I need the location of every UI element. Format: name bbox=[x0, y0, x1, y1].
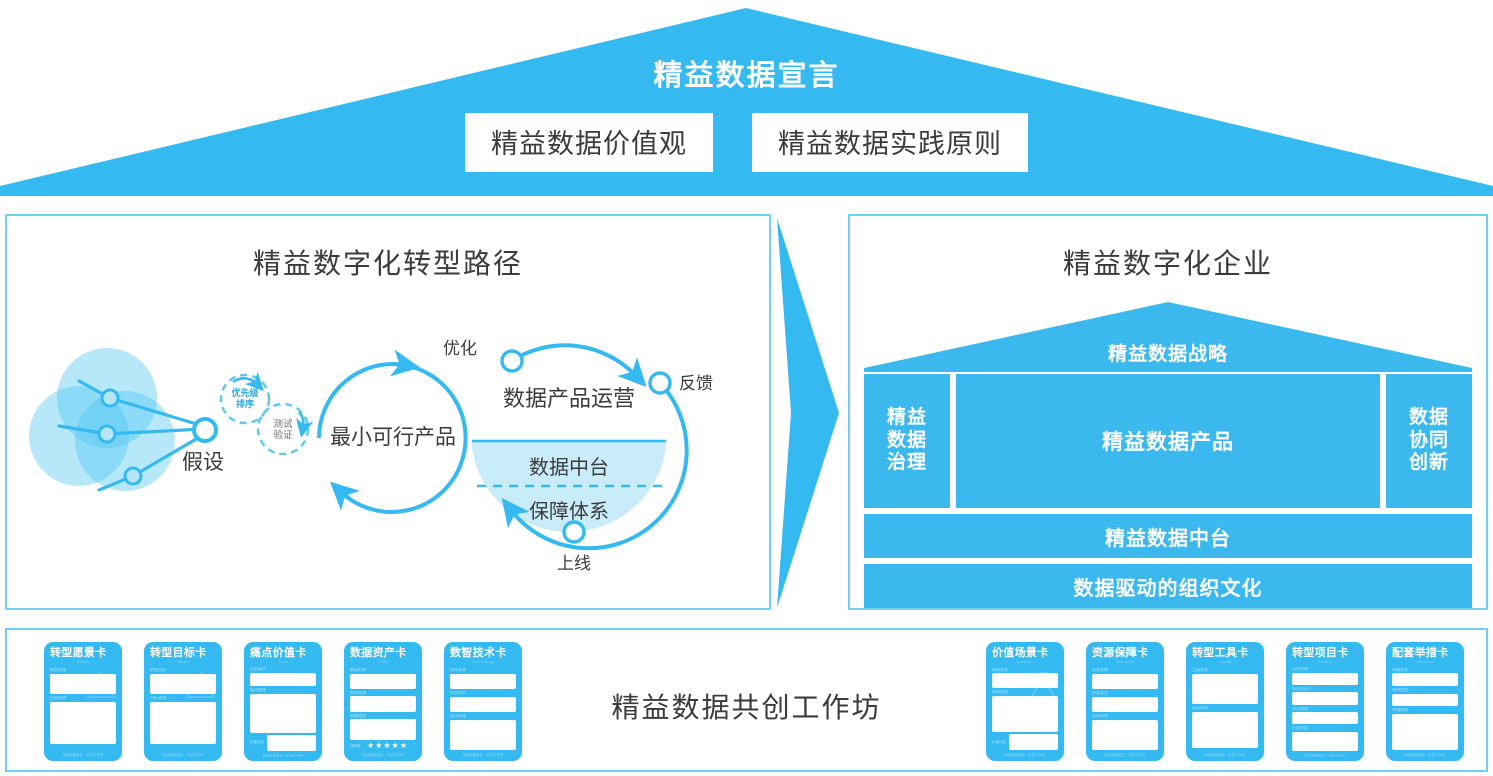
hypothesis-node bbox=[194, 419, 216, 441]
card-rating[interactable]: 成熟度：★★★★★ bbox=[350, 742, 416, 750]
middle-row: 精益数字化转型路径 bbox=[0, 214, 1493, 612]
card-subtitle: Value bbox=[250, 659, 316, 663]
card-input-box[interactable] bbox=[350, 696, 416, 711]
flask-watermark-icon bbox=[1026, 668, 1060, 702]
card-field-label: 价值评估 bbox=[250, 740, 264, 745]
card-title: 转型目标卡 bbox=[150, 647, 216, 659]
card-input-box[interactable] bbox=[1192, 674, 1258, 704]
card-field-label: 项目名称 bbox=[1292, 667, 1358, 671]
manifesto-roof: 精益数据宣言 精益数据价值观 精益数据实践原则 bbox=[0, 0, 1493, 196]
star-icon[interactable]: ★ bbox=[392, 742, 399, 750]
star-icon[interactable]: ★ bbox=[375, 742, 382, 750]
transition-arrow-icon bbox=[773, 214, 843, 612]
card-field-label: 项目负责人 bbox=[1292, 687, 1358, 691]
house-pillars: 精益 数据 治理 精益数据产品 数据 协同 创新 bbox=[864, 374, 1472, 508]
lean-data-manifesto-diagram: 精益数据宣言 精益数据价值观 精益数据实践原则 精益数字化转型路径 bbox=[0, 0, 1493, 776]
card-subtitle: Toolkit bbox=[1192, 659, 1258, 664]
card-field-label: 数据名称 bbox=[350, 668, 416, 673]
workshop-card[interactable]: 配套举措卡Measure举措名称举措类型举措说明精益数据宣言 · 共创工作坊 bbox=[1386, 642, 1464, 761]
card-footer: 精益数据宣言 · 共创工作坊 bbox=[1192, 750, 1258, 757]
card-rating-label: 成熟度： bbox=[350, 744, 364, 749]
card-input-box[interactable] bbox=[50, 702, 116, 744]
card-title: 痛点价值卡 bbox=[250, 647, 316, 659]
ops-mid-label: 数据中台 bbox=[529, 456, 609, 479]
card-field-label: 数据描述 bbox=[350, 714, 416, 719]
card-footer: 精益数据宣言 · 共创工作坊 bbox=[350, 750, 416, 757]
triangle-watermark-icon bbox=[84, 668, 118, 702]
star-icon[interactable]: ★ bbox=[400, 742, 407, 750]
triangle-watermark-icon bbox=[184, 668, 218, 702]
transformation-path-graphic: 假设 优先级 排序 测试 验证 bbox=[7, 286, 773, 612]
workshop-cards-right: 价值场景卡Scenario场景名称场景描述价值评估精益数据宣言 · 共创工作坊资… bbox=[986, 642, 1464, 761]
ops-top-label: 数据产品运营 bbox=[503, 386, 635, 411]
card-inline-field[interactable]: 价值评估 bbox=[992, 734, 1058, 750]
card-title: 配套举措卡 bbox=[1392, 647, 1458, 659]
card-subtitle: Vision bbox=[50, 659, 116, 664]
foundation-data-midend[interactable]: 精益数据中台 bbox=[864, 514, 1472, 558]
lean-digital-enterprise-panel: 精益数字化企业 精益数据战略 精益 数据 治理 bbox=[848, 214, 1488, 610]
card-title: 转型工具卡 bbox=[1192, 647, 1258, 659]
card-field-label: 适用场景 bbox=[1192, 706, 1258, 711]
card-footer: 精益数据宣言 · 共创工作坊 bbox=[450, 750, 516, 757]
pillar-governance-line1: 精益 bbox=[887, 407, 927, 428]
house-roof: 精益数据战略 bbox=[864, 302, 1472, 372]
workshop-card[interactable]: 痛点价值卡Value业务痛点痛点描述价值评估精益数据宣言 · 共创工作坊 bbox=[244, 642, 322, 761]
card-title: 数智技术卡 bbox=[450, 647, 516, 659]
card-input-box[interactable] bbox=[350, 719, 416, 740]
pillar-collab-line2: 协同 bbox=[1409, 430, 1449, 451]
card-input-box[interactable] bbox=[1192, 712, 1258, 748]
card-field-label: 资源类型 bbox=[1092, 691, 1158, 696]
card-field-label: 举措名称 bbox=[1392, 668, 1458, 673]
pillar-data-collaboration[interactable]: 数据 协同 创新 bbox=[1386, 374, 1472, 508]
card-footer: 精益数据宣言 · 共创工作坊 bbox=[1292, 751, 1358, 757]
optimize-label: 优化 bbox=[443, 339, 477, 358]
card-field-label: 资源说明 bbox=[1092, 714, 1158, 719]
card-input-box[interactable] bbox=[1292, 732, 1358, 751]
pillar-governance-line3: 治理 bbox=[887, 452, 927, 473]
workshop-card[interactable]: 价值场景卡Scenario场景名称场景描述价值评估精益数据宣言 · 共创工作坊 bbox=[986, 642, 1064, 761]
card-footer: 精益数据宣言 · 共创工作坊 bbox=[992, 750, 1058, 757]
card-input-box[interactable] bbox=[450, 697, 516, 712]
workshop-card[interactable]: 数智技术卡Technology技术名称技术特点应用场景精益数据宣言 · 共创工作… bbox=[444, 642, 522, 761]
launch-label: 上线 bbox=[557, 554, 591, 573]
card-input-box[interactable] bbox=[350, 674, 416, 689]
manifesto-title: 精益数据宣言 bbox=[0, 52, 1493, 94]
pillar-data-governance[interactable]: 精益 数据 治理 bbox=[864, 374, 950, 508]
workshop-card[interactable]: 数据资产卡Data数据名称数据来源数据描述成熟度：★★★★★精益数据宣言 · 共… bbox=[344, 642, 422, 761]
launch-node bbox=[564, 522, 584, 542]
card-input-box[interactable] bbox=[1092, 674, 1158, 689]
card-subtitle: Project bbox=[1292, 659, 1358, 663]
svg-text:排序: 排序 bbox=[236, 398, 254, 409]
data-sources-blobs bbox=[29, 348, 175, 491]
card-subtitle: Technology bbox=[450, 659, 516, 664]
card-field-label: 项目周期 bbox=[1292, 707, 1358, 711]
card-field-label: 痛点描述 bbox=[250, 688, 316, 692]
card-field-label: 资源名称 bbox=[1092, 668, 1158, 673]
transformation-path-title: 精益数字化转型路径 bbox=[7, 242, 769, 282]
star-icon[interactable]: ★ bbox=[383, 742, 390, 750]
pillar-data-products[interactable]: 精益数据产品 bbox=[956, 374, 1380, 508]
mvp-circle: 最小可行产品 bbox=[319, 364, 466, 512]
card-input-box[interactable] bbox=[1392, 673, 1458, 686]
card-field-label: 工具名称 bbox=[1192, 668, 1258, 673]
card-field-label: 举措类型 bbox=[1392, 688, 1458, 693]
card-title: 资源保障卡 bbox=[1092, 647, 1158, 659]
card-title: 价值场景卡 bbox=[992, 647, 1058, 659]
workshop-panel: 精益数据共创工作坊 转型愿景卡Vision转型愿景愿景说明精益数据宣言 · 共创… bbox=[5, 628, 1488, 772]
feedback-node bbox=[650, 373, 670, 393]
lean-digital-enterprise-title: 精益数字化企业 bbox=[850, 242, 1486, 282]
ops-bottom-label: 保障体系 bbox=[529, 500, 609, 523]
operations-circle: 数据产品运营 数据中台 保障体系 优化 反馈 上线 bbox=[443, 339, 713, 573]
card-field-label: 举措说明 bbox=[1392, 708, 1458, 713]
card-input-box[interactable] bbox=[150, 702, 216, 744]
foundation-data-culture[interactable]: 数据驱动的组织文化 bbox=[864, 564, 1472, 608]
card-inline-field[interactable]: 价值评估 bbox=[250, 735, 316, 751]
card-footer: 精益数据宣言 · 共创工作坊 bbox=[1392, 750, 1458, 757]
card-input-box[interactable] bbox=[450, 720, 516, 751]
card-field-label: 价值评估 bbox=[992, 740, 1006, 745]
enterprise-house: 精益数据战略 精益 数据 治理 精益数据产品 数据 协同 bbox=[864, 302, 1472, 608]
workshop-card[interactable]: 资源保障卡Resource资源名称资源类型资源说明精益数据宣言 · 共创工作坊 bbox=[1086, 642, 1164, 761]
card-footer: 精益数据宣言 · 共创工作坊 bbox=[150, 750, 216, 757]
manifesto-pillar-boxes: 精益数据价值观 精益数据实践原则 bbox=[0, 113, 1493, 172]
svg-text:验证: 验证 bbox=[273, 429, 293, 441]
pillar-governance-line2: 数据 bbox=[887, 430, 927, 451]
optimize-node bbox=[502, 351, 522, 371]
card-field-label: 主要内容 bbox=[1292, 726, 1358, 730]
pillar-collab-line1: 数据 bbox=[1409, 407, 1449, 428]
test-validate-node: 测试 验证 bbox=[258, 404, 308, 454]
card-subtitle: Scenario bbox=[992, 659, 1058, 664]
manifesto-box-principles[interactable]: 精益数据实践原则 bbox=[752, 113, 1028, 172]
card-input-box[interactable] bbox=[267, 735, 316, 751]
card-subtitle: Resource bbox=[1092, 659, 1158, 664]
priority-sort-node: 优先级 排序 bbox=[221, 375, 269, 423]
card-title: 转型愿景卡 bbox=[50, 647, 116, 659]
card-title: 数据资产卡 bbox=[350, 647, 416, 659]
card-input-box[interactable] bbox=[450, 674, 516, 689]
card-field-label: 技术特点 bbox=[450, 691, 516, 696]
card-subtitle: Target bbox=[150, 659, 216, 664]
card-input-box[interactable] bbox=[1009, 734, 1058, 750]
feedback-label: 反馈 bbox=[679, 374, 713, 393]
card-input-box[interactable] bbox=[1292, 692, 1358, 704]
card-input-box[interactable] bbox=[1092, 720, 1158, 751]
card-input-box[interactable] bbox=[1292, 712, 1358, 724]
card-input-box[interactable] bbox=[250, 673, 316, 687]
workshop-card[interactable]: 转型项目卡Project项目名称项目负责人项目周期主要内容精益数据宣言 · 共创… bbox=[1286, 642, 1364, 761]
card-subtitle: Data bbox=[350, 659, 416, 664]
card-footer: 精益数据宣言 · 共创工作坊 bbox=[250, 751, 316, 757]
hypothesis-label: 假设 bbox=[182, 451, 224, 474]
star-icon[interactable]: ★ bbox=[367, 742, 374, 750]
workshop-cards-left: 转型愿景卡Vision转型愿景愿景说明精益数据宣言 · 共创工作坊转型目标卡Ta… bbox=[44, 642, 522, 761]
card-field-label: 数据来源 bbox=[350, 691, 416, 696]
manifesto-box-values[interactable]: 精益数据价值观 bbox=[465, 113, 713, 172]
card-input-box[interactable] bbox=[1392, 694, 1458, 707]
workshop-card[interactable]: 转型工具卡Toolkit工具名称适用场景精益数据宣言 · 共创工作坊 bbox=[1186, 642, 1264, 761]
card-input-box[interactable] bbox=[250, 694, 316, 733]
card-footer: 精益数据宣言 · 共创工作坊 bbox=[50, 750, 116, 757]
workshop-card[interactable]: 转型愿景卡Vision转型愿景愿景说明精益数据宣言 · 共创工作坊 bbox=[44, 642, 122, 761]
card-footer: 精益数据宣言 · 共创工作坊 bbox=[1092, 750, 1158, 757]
pillar-collab-line3: 创新 bbox=[1409, 452, 1449, 473]
card-subtitle: Measure bbox=[1392, 659, 1458, 664]
card-field-label: 应用场景 bbox=[450, 714, 516, 719]
card-input-box[interactable] bbox=[1392, 714, 1458, 751]
card-field-label: 技术名称 bbox=[450, 668, 516, 673]
transformation-path-panel: 精益数字化转型路径 bbox=[5, 214, 771, 610]
workshop-card[interactable]: 转型目标卡Target转型目标目标说明精益数据宣言 · 共创工作坊 bbox=[144, 642, 222, 761]
mvp-label: 最小可行产品 bbox=[330, 426, 456, 449]
card-input-box[interactable] bbox=[1092, 697, 1158, 712]
svg-text:优先级: 优先级 bbox=[231, 387, 259, 398]
card-input-box[interactable] bbox=[1292, 673, 1358, 685]
card-title: 转型项目卡 bbox=[1292, 647, 1358, 659]
card-field-label: 业务痛点 bbox=[250, 667, 316, 671]
svg-text:测试: 测试 bbox=[273, 418, 293, 430]
data-strategy-label: 精益数据战略 bbox=[864, 339, 1472, 366]
